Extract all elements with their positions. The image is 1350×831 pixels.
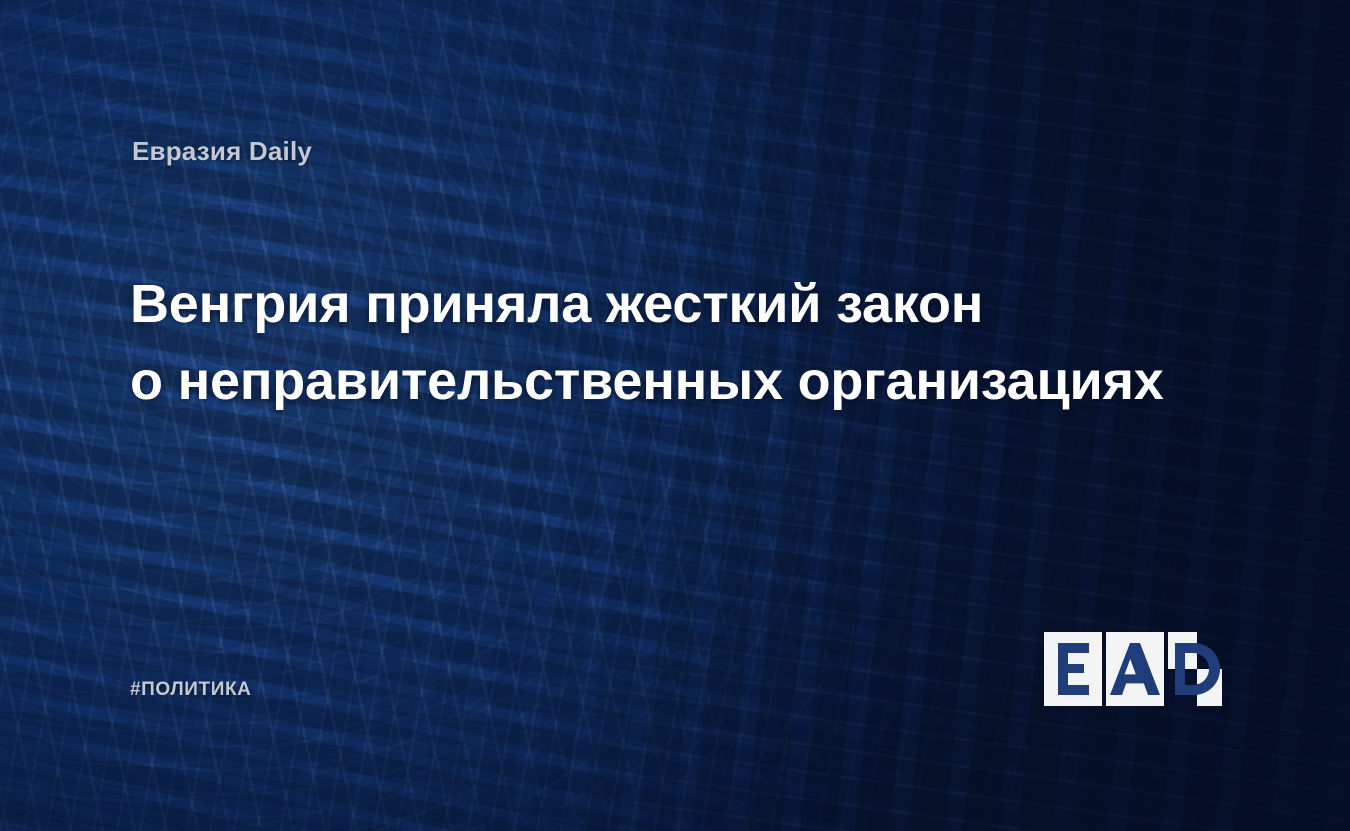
category-hashtag[interactable]: #ПОЛИТИКА bbox=[130, 679, 252, 701]
brand-name: Евразия Daily bbox=[132, 136, 312, 167]
headline-line-1: Венгрия приняла жесткий закон bbox=[130, 266, 1210, 343]
headline-line-2: о неправительственных организациях bbox=[130, 343, 1210, 420]
news-card: Евразия Daily Венгрия приняла жесткий за… bbox=[0, 0, 1350, 831]
eadaily-logo[interactable] bbox=[1044, 632, 1222, 706]
page-title: Венгрия приняла жесткий закон о неправит… bbox=[130, 266, 1210, 420]
